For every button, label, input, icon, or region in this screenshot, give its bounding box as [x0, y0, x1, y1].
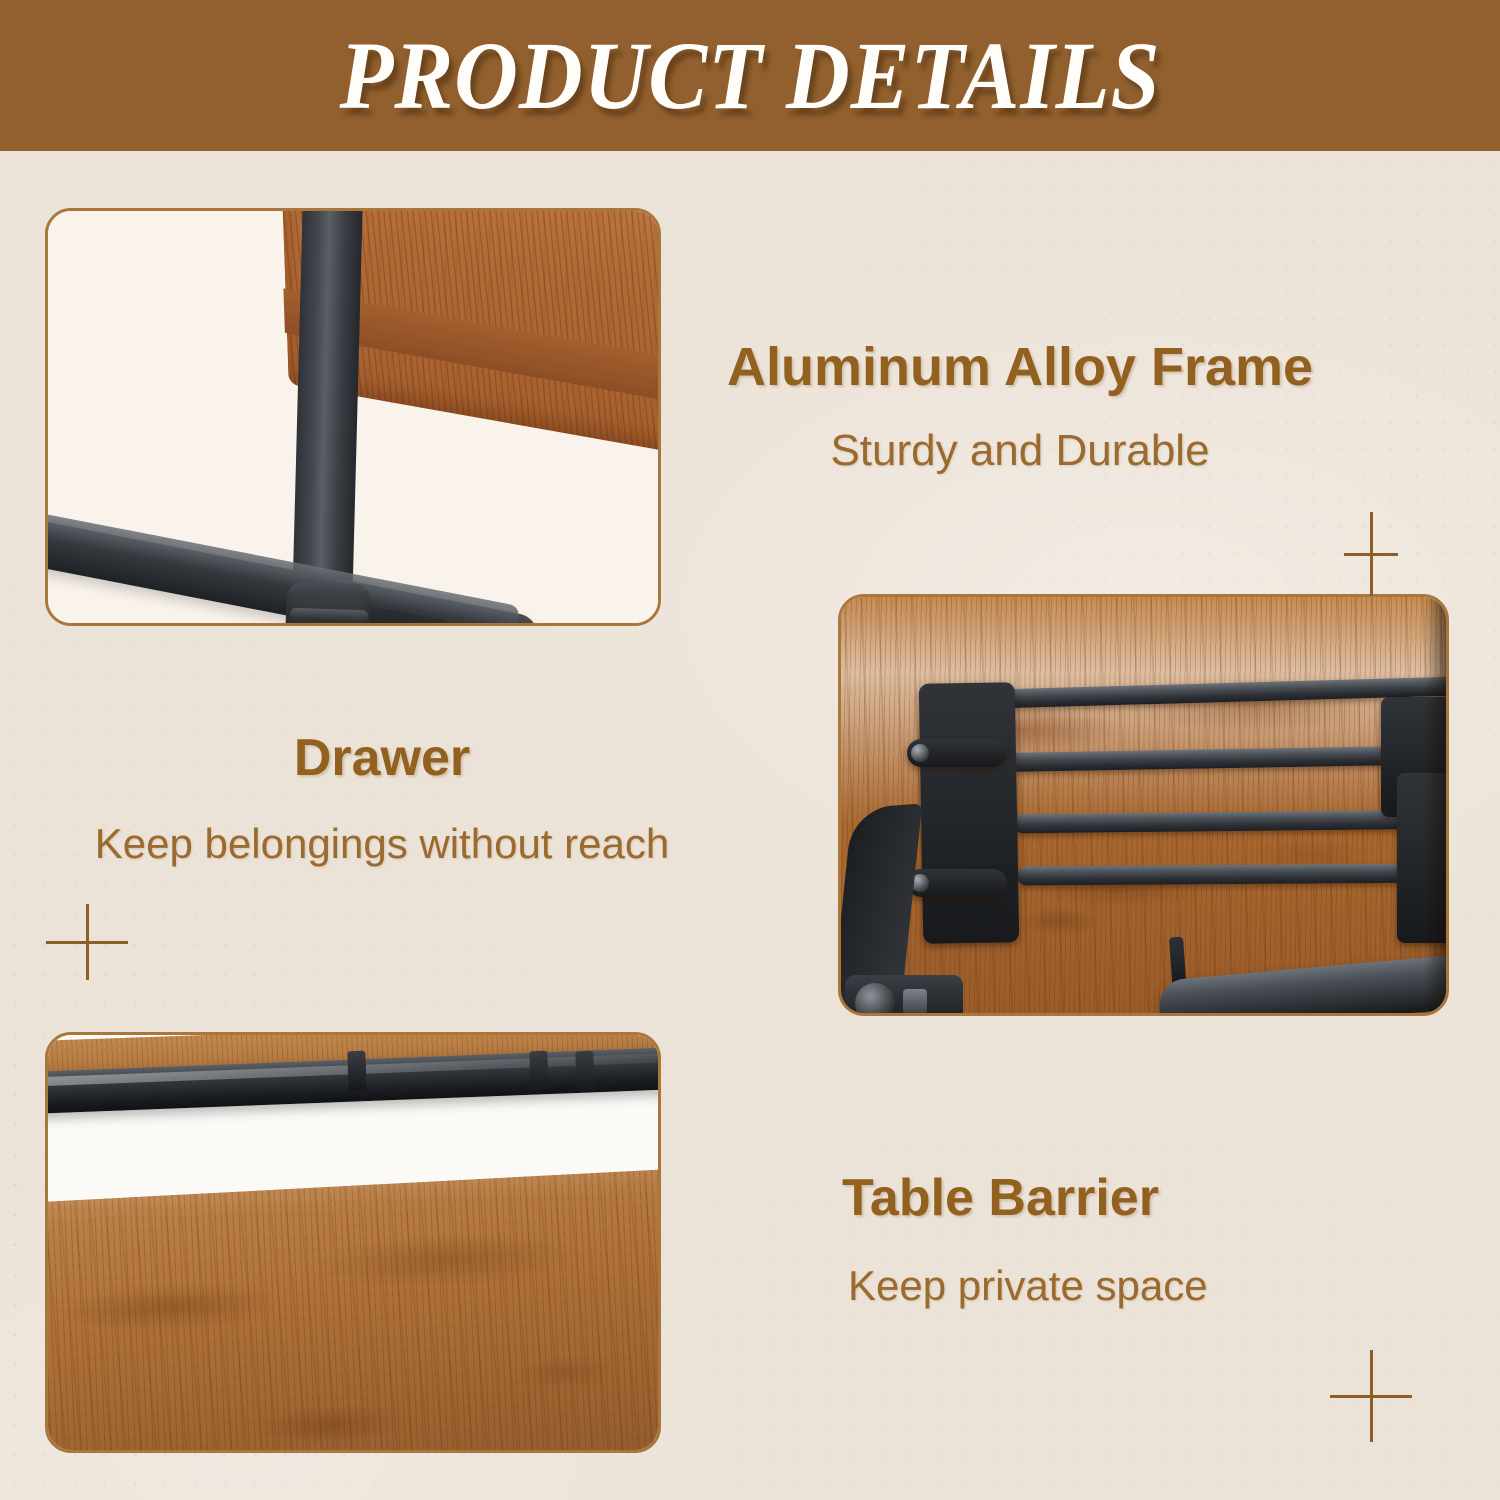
- panel-edge-shadow: [1424, 597, 1446, 1013]
- barrier-clip-3: [575, 1051, 594, 1092]
- feature-image-table-barrier: [45, 1032, 661, 1453]
- feature-image-drawer: [838, 594, 1449, 1016]
- table-leg-column: [289, 211, 363, 623]
- page-title: PRODUCT DETAILS: [60, 28, 1440, 124]
- barrier-clip-1: [347, 1051, 366, 1092]
- feature-subtitle-drawer: Keep belongings without reach: [48, 818, 716, 870]
- feature-title-table-barrier: Table Barrier: [842, 1168, 1390, 1228]
- drawer-bracket-left: [919, 682, 1020, 944]
- tabletop-grain-overlay: [48, 1167, 658, 1450]
- feature-text-table-barrier: Table Barrier Keep private space: [790, 1168, 1390, 1312]
- photo-barrier-closeup: [48, 1035, 658, 1450]
- feature-text-aluminum-alloy-frame: Aluminum Alloy Frame Sturdy and Durable: [700, 336, 1340, 478]
- plus-mark-icon-right-lower: [1330, 1350, 1412, 1442]
- drawer-pin-1: [911, 744, 929, 762]
- photo-frame-closeup: [48, 211, 658, 623]
- feature-text-drawer: Drawer Keep belongings without reach: [48, 728, 716, 870]
- feature-title-drawer: Drawer: [48, 728, 716, 788]
- feature-image-aluminum-alloy-frame: [45, 208, 661, 626]
- feature-title-aluminum-alloy-frame: Aluminum Alloy Frame: [700, 336, 1340, 398]
- lock-button: [903, 989, 927, 1013]
- product-details-page: PRODUCT DETAILS: [0, 0, 1500, 1500]
- plus-mark-icon-right-upper: [1344, 512, 1398, 596]
- feature-subtitle-table-barrier: Keep private space: [842, 1260, 1390, 1312]
- drawer-rail-4: [1017, 863, 1446, 885]
- photo-folded-underside: [841, 597, 1446, 1013]
- feature-subtitle-aluminum-alloy-frame: Sturdy and Durable: [700, 424, 1340, 478]
- barrier-clip-2: [529, 1051, 548, 1092]
- header-banner: PRODUCT DETAILS: [0, 0, 1500, 151]
- plus-mark-icon-left-middle: [46, 904, 128, 980]
